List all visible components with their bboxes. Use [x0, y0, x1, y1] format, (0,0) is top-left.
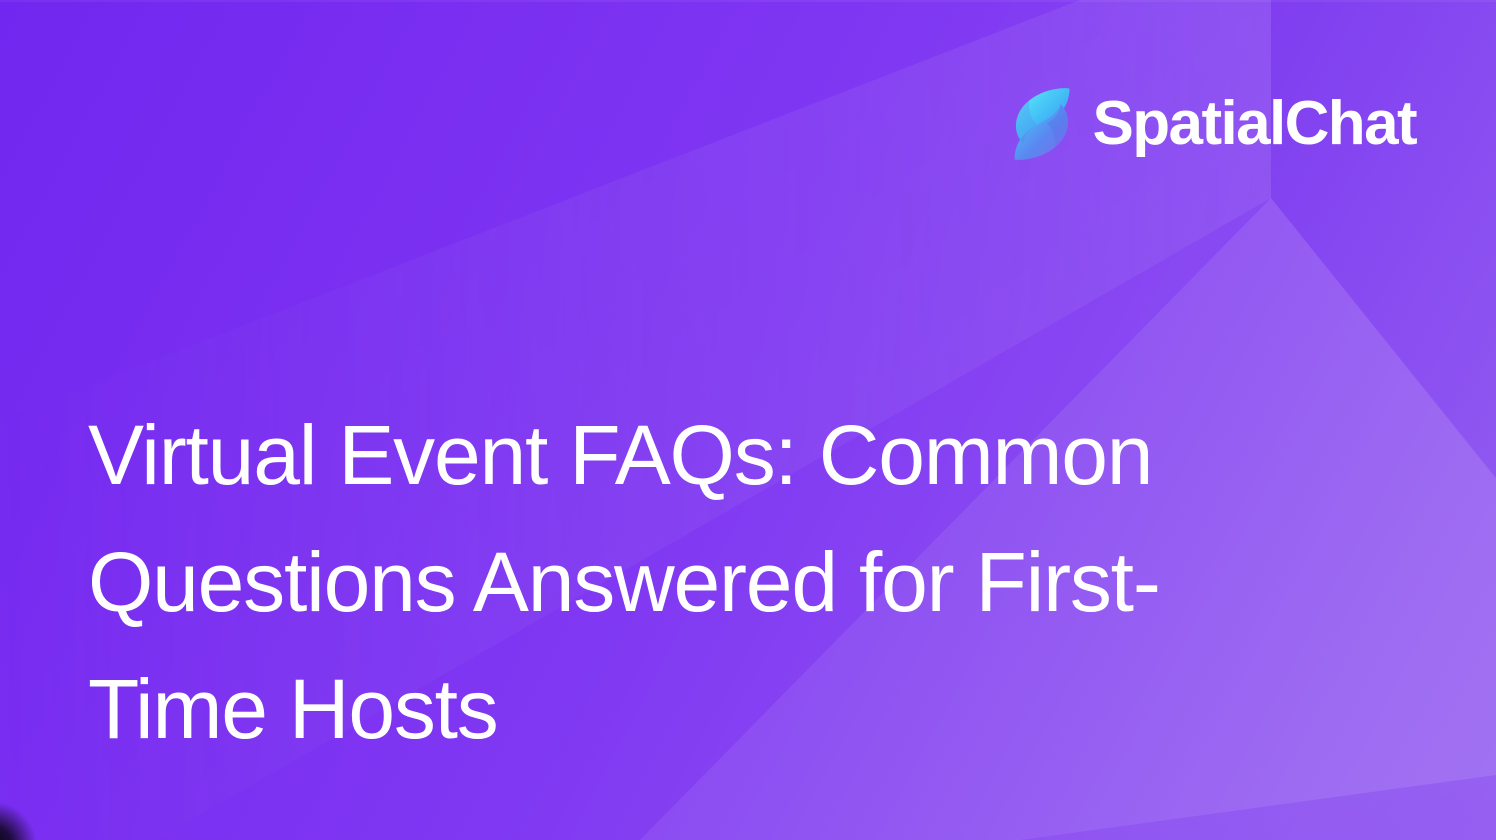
page-title-line-2: Questions Answered for First-	[88, 519, 1378, 646]
spatialchat-wordmark: SpatialChat	[1093, 93, 1416, 155]
spatialchat-s-mark-icon	[1013, 82, 1071, 166]
spatialchat-logo[interactable]: SpatialChat	[1013, 82, 1416, 166]
page-title-line-1: Virtual Event FAQs: Common	[88, 392, 1378, 519]
blog-hero-banner: SpatialChat Virtual Event FAQs: Common Q…	[0, 0, 1496, 840]
page-title-line-3: Time Hosts	[88, 646, 1378, 773]
page-title: Virtual Event FAQs: Common Questions Ans…	[88, 392, 1378, 772]
